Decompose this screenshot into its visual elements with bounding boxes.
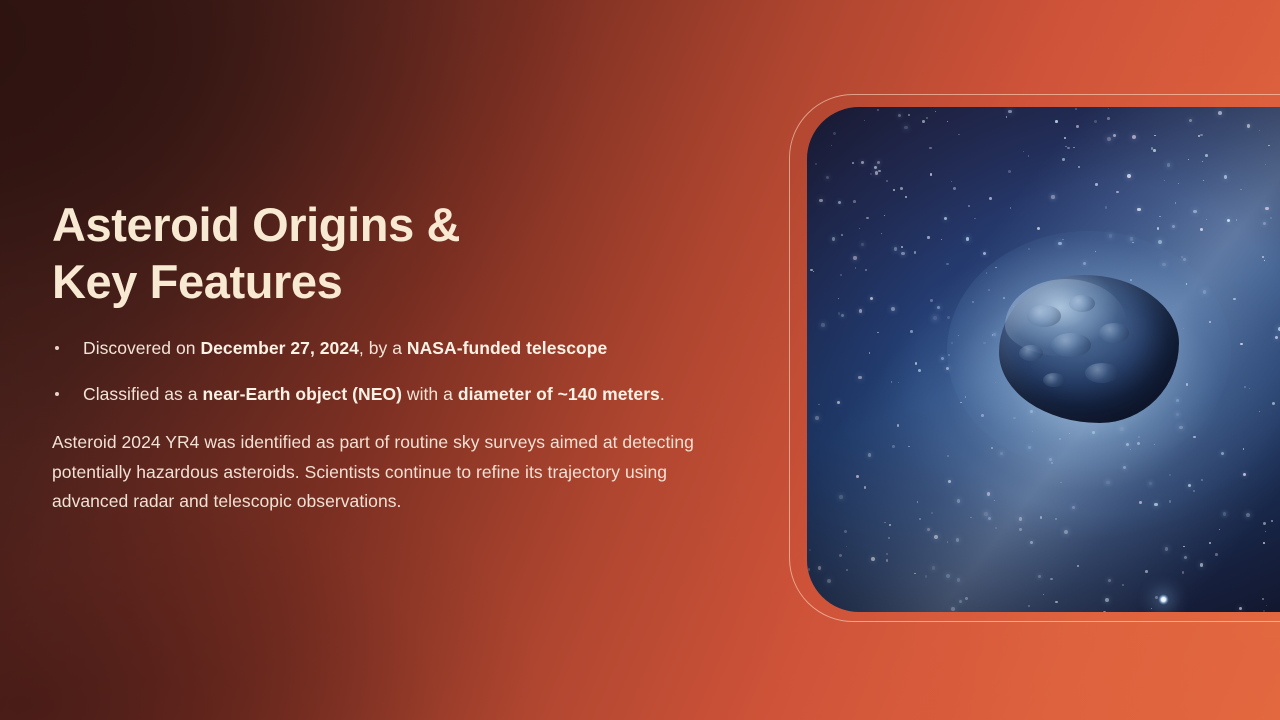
bullet-dot-icon: [55, 392, 59, 396]
photo-vignette: [807, 107, 1280, 612]
bright-star-icon: [1158, 594, 1169, 605]
asteroid-photo: [807, 107, 1280, 612]
bullet-text-0: Discovered on December 27, 2024, by a NA…: [83, 338, 607, 358]
slide: Asteroid Origins & Key Features Discover…: [0, 0, 1280, 720]
bullet-dot-icon: [55, 346, 59, 350]
page-title: Asteroid Origins & Key Features: [52, 196, 752, 310]
bullet-list: Discovered on December 27, 2024, by a NA…: [52, 336, 752, 406]
body-paragraph: Asteroid 2024 YR4 was identified as part…: [52, 428, 742, 517]
bullet-text-1: Classified as a near-Earth object (NEO) …: [83, 384, 665, 404]
list-item: Classified as a near-Earth object (NEO) …: [52, 382, 752, 406]
list-item: Discovered on December 27, 2024, by a NA…: [52, 336, 752, 360]
text-column: Asteroid Origins & Key Features Discover…: [52, 196, 752, 517]
